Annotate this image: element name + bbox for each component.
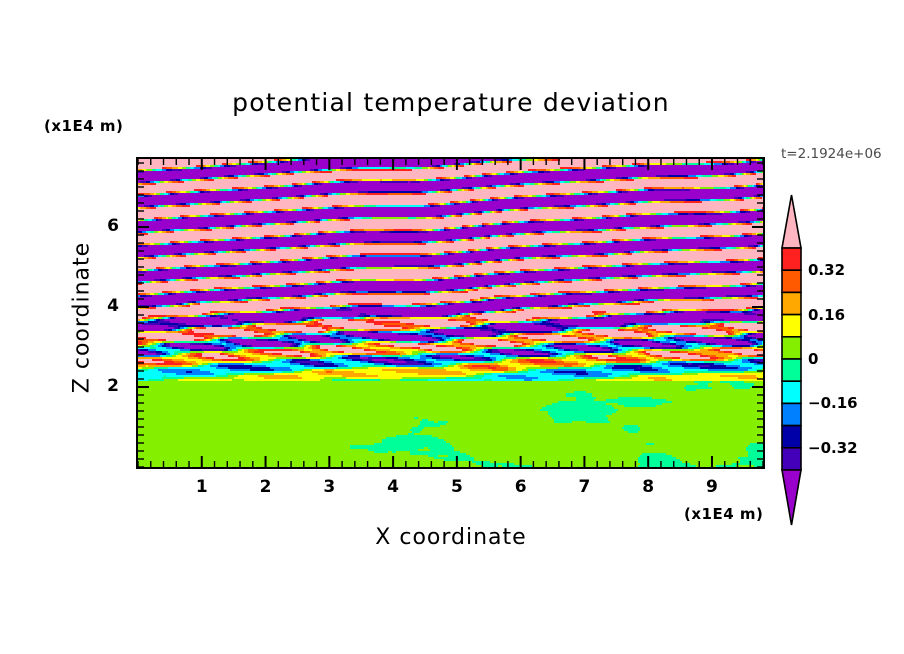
y-tick-label: 4 (100, 296, 126, 316)
x-tick-label: 5 (437, 477, 477, 497)
y-unit-label: (x1E4 m) (44, 117, 123, 135)
colorbar-tick-label: 0 (808, 350, 818, 368)
colorbar-tick-label: −0.16 (808, 394, 858, 412)
colorbar-tick-label: 0.16 (808, 306, 845, 324)
contour-field (138, 159, 763, 467)
page-title: potential temperature deviation (136, 88, 766, 117)
colorbar-tick-label: −0.32 (808, 439, 858, 457)
x-tick-label: 3 (309, 477, 349, 497)
x-tick-label: 8 (628, 477, 668, 497)
x-unit-label: (x1E4 m) (684, 505, 763, 523)
y-tick-label: 2 (100, 376, 126, 396)
x-tick-label: 4 (373, 477, 413, 497)
x-tick-label: 2 (246, 477, 286, 497)
x-axis-title: X coordinate (136, 525, 766, 550)
figure-canvas: potential temperature deviation (x1E4 m)… (0, 0, 904, 654)
x-tick-label: 9 (692, 477, 732, 497)
contour-plot-area (136, 157, 765, 469)
x-tick-label: 1 (182, 477, 222, 497)
time-annotation: t=2.1924e+06 (781, 146, 882, 162)
x-tick-label: 7 (564, 477, 604, 497)
x-tick-label: 6 (501, 477, 541, 497)
y-axis-title: Z coordinate (70, 208, 95, 428)
colorbar-tick-label: 0.32 (808, 261, 845, 279)
y-tick-label: 6 (100, 216, 126, 236)
